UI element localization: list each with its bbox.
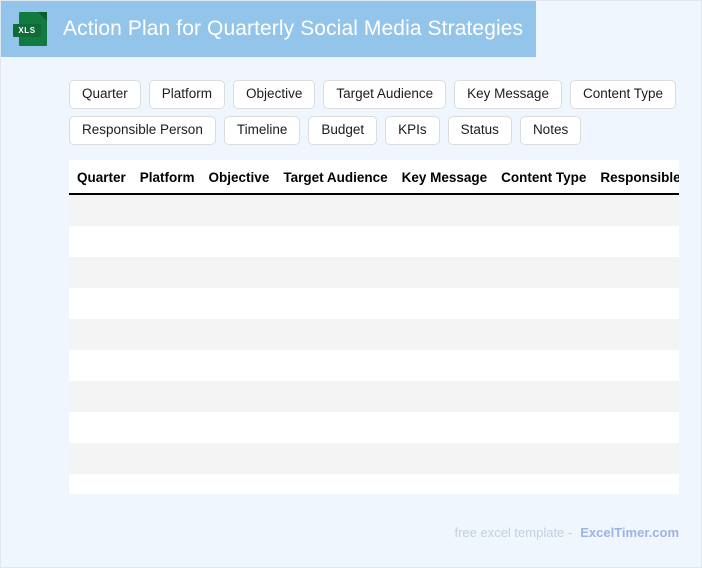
field-chip-list: QuarterPlatformObjectiveTarget AudienceK… — [69, 80, 681, 145]
table-cell[interactable] — [388, 288, 488, 319]
table-cell[interactable] — [269, 257, 387, 288]
table-cell[interactable] — [487, 474, 586, 494]
table-cell[interactable] — [586, 443, 679, 474]
file-fold-corner — [38, 12, 47, 21]
xls-file-icon: XLS — [19, 12, 47, 46]
table-cell[interactable] — [388, 443, 488, 474]
data-table: QuarterPlatformObjectiveTarget AudienceK… — [69, 160, 679, 494]
table-cell[interactable] — [269, 288, 387, 319]
table-cell[interactable] — [487, 288, 586, 319]
table-cell[interactable] — [269, 319, 387, 350]
footer-lead-text: free excel template - — [454, 525, 572, 540]
table-cell[interactable] — [69, 443, 126, 474]
table-row[interactable] — [69, 412, 679, 443]
table-cell[interactable] — [586, 194, 679, 226]
table-cell[interactable] — [388, 381, 488, 412]
table-row[interactable] — [69, 350, 679, 381]
table-cell[interactable] — [69, 194, 126, 226]
field-chip[interactable]: Quarter — [69, 80, 141, 109]
table-cell[interactable] — [126, 226, 195, 257]
table-cell[interactable] — [126, 443, 195, 474]
table-row[interactable] — [69, 194, 679, 226]
footer-brand-link[interactable]: ExcelTimer.com — [580, 525, 679, 540]
table-cell[interactable] — [269, 381, 387, 412]
table-scroll-area[interactable]: QuarterPlatformObjectiveTarget AudienceK… — [69, 160, 679, 494]
field-chip[interactable]: Platform — [149, 80, 225, 109]
table-header: QuarterPlatformObjectiveTarget AudienceK… — [69, 160, 679, 194]
table-cell[interactable] — [388, 194, 488, 226]
table-column-header[interactable]: Objective — [195, 160, 270, 194]
table-row[interactable] — [69, 443, 679, 474]
footer: free excel template - ExcelTimer.com — [454, 525, 679, 540]
table-cell[interactable] — [195, 319, 270, 350]
table-cell[interactable] — [195, 257, 270, 288]
table-column-header[interactable]: Content Type — [487, 160, 586, 194]
field-chip[interactable]: Objective — [233, 80, 315, 109]
field-chip[interactable]: Target Audience — [323, 80, 446, 109]
table-cell[interactable] — [69, 226, 126, 257]
table-cell[interactable] — [126, 474, 195, 494]
table-cell[interactable] — [69, 257, 126, 288]
table-cell[interactable] — [69, 319, 126, 350]
table-cell[interactable] — [269, 194, 387, 226]
table-row[interactable] — [69, 257, 679, 288]
field-chip[interactable]: Timeline — [224, 116, 301, 145]
field-chip[interactable]: Content Type — [570, 80, 676, 109]
table-cell[interactable] — [487, 412, 586, 443]
table-cell[interactable] — [487, 443, 586, 474]
table-column-header[interactable]: Responsible Person — [586, 160, 679, 194]
field-chip[interactable]: Budget — [308, 116, 377, 145]
table-cell[interactable] — [487, 257, 586, 288]
table-cell[interactable] — [586, 350, 679, 381]
table-cell[interactable] — [195, 226, 270, 257]
table-column-header[interactable]: Target Audience — [269, 160, 387, 194]
table-cell[interactable] — [195, 288, 270, 319]
table-cell[interactable] — [269, 443, 387, 474]
table-cell[interactable] — [195, 443, 270, 474]
xls-badge-label: XLS — [13, 24, 41, 37]
table-cell[interactable] — [487, 350, 586, 381]
table-cell[interactable] — [487, 381, 586, 412]
table-cell[interactable] — [126, 350, 195, 381]
table-cell[interactable] — [586, 288, 679, 319]
table-cell[interactable] — [388, 474, 488, 494]
table-cell[interactable] — [69, 412, 126, 443]
table-row[interactable] — [69, 226, 679, 257]
table-cell[interactable] — [69, 474, 126, 494]
field-chip[interactable]: KPIs — [385, 116, 440, 145]
table-cell[interactable] — [388, 412, 488, 443]
table-header-row: QuarterPlatformObjectiveTarget AudienceK… — [69, 160, 679, 194]
table-column-header[interactable]: Quarter — [69, 160, 126, 194]
table-cell[interactable] — [195, 350, 270, 381]
field-chip[interactable]: Notes — [520, 116, 581, 145]
table-cell[interactable] — [126, 381, 195, 412]
table-row[interactable] — [69, 319, 679, 350]
table-row[interactable] — [69, 381, 679, 412]
table-cell[interactable] — [586, 319, 679, 350]
header-banner: XLS Action Plan for Quarterly Social Med… — [1, 1, 536, 57]
table-cell[interactable] — [269, 412, 387, 443]
table-column-header[interactable]: Key Message — [388, 160, 488, 194]
table-cell[interactable] — [487, 194, 586, 226]
table-cell[interactable] — [388, 257, 488, 288]
table-cell[interactable] — [126, 412, 195, 443]
table-cell[interactable] — [388, 226, 488, 257]
table-row[interactable] — [69, 288, 679, 319]
table-cell[interactable] — [269, 350, 387, 381]
table-cell[interactable] — [388, 319, 488, 350]
table-cell[interactable] — [388, 350, 488, 381]
table-cell[interactable] — [195, 194, 270, 226]
table-cell[interactable] — [69, 288, 126, 319]
table-cell[interactable] — [195, 381, 270, 412]
field-chip[interactable]: Responsible Person — [69, 116, 216, 145]
table-cell[interactable] — [126, 194, 195, 226]
table-cell[interactable] — [126, 288, 195, 319]
data-table-card: QuarterPlatformObjectiveTarget AudienceK… — [69, 160, 679, 494]
table-body — [69, 194, 679, 494]
table-cell[interactable] — [69, 381, 126, 412]
field-chip[interactable]: Key Message — [454, 80, 562, 109]
field-chip[interactable]: Status — [448, 116, 512, 145]
table-cell[interactable] — [69, 350, 126, 381]
table-cell[interactable] — [269, 474, 387, 494]
table-cell[interactable] — [126, 257, 195, 288]
table-column-header[interactable]: Platform — [126, 160, 195, 194]
table-cell[interactable] — [195, 412, 270, 443]
page-title: Action Plan for Quarterly Social Media S… — [63, 17, 523, 41]
table-cell[interactable] — [126, 319, 195, 350]
table-cell[interactable] — [269, 226, 387, 257]
table-cell[interactable] — [586, 257, 679, 288]
table-cell[interactable] — [487, 319, 586, 350]
table-cell[interactable] — [586, 226, 679, 257]
table-cell[interactable] — [195, 474, 270, 494]
table-row[interactable] — [69, 474, 679, 494]
table-cell[interactable] — [586, 474, 679, 494]
table-cell[interactable] — [586, 381, 679, 412]
table-cell[interactable] — [487, 226, 586, 257]
table-cell[interactable] — [586, 412, 679, 443]
